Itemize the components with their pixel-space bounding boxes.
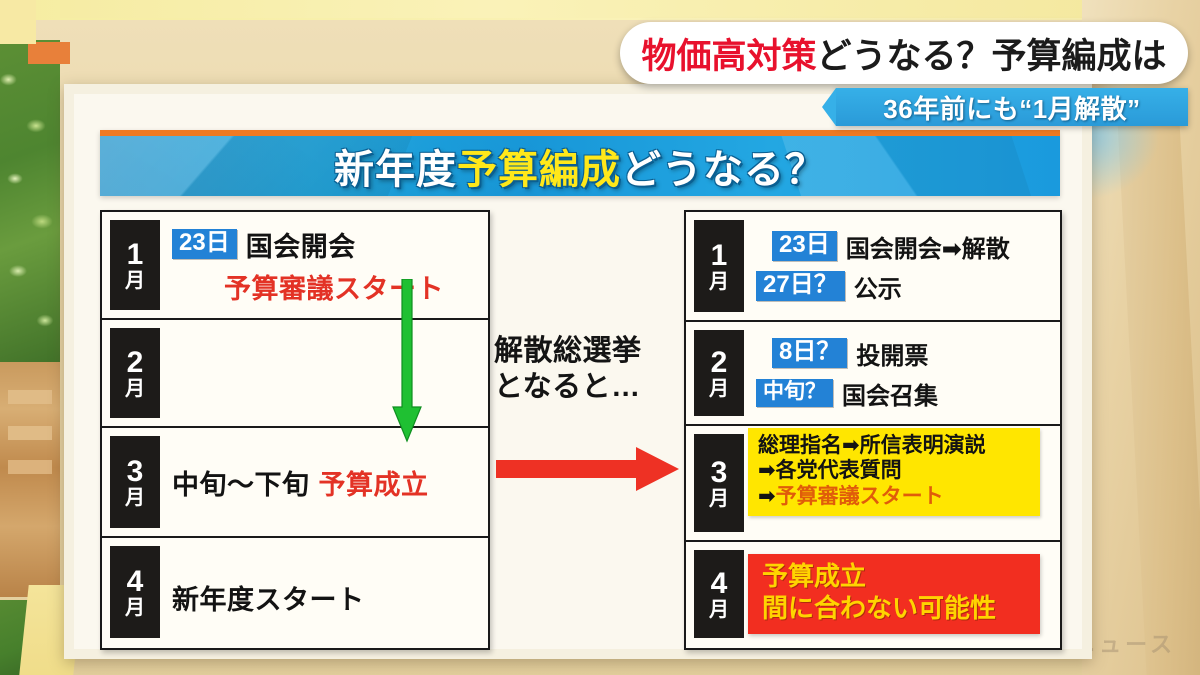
table-row: 2 月 8日？ 投開票 中旬？ 国会召集 <box>686 322 1060 426</box>
row-content: 新年度スタート <box>172 568 482 617</box>
timeline-table-scenario: 1 月 23日 国会開会➡解散 27日？ 公示 2 月 <box>684 210 1062 650</box>
month-kanji: 月 <box>125 598 145 618</box>
month-number: 2 <box>711 348 728 378</box>
month-chip: 2 月 <box>694 330 744 416</box>
event-label: 投開票 <box>856 336 928 371</box>
month-number: 3 <box>127 457 144 487</box>
background-foliage-left <box>0 40 60 370</box>
month-chip: 1 月 <box>110 220 160 310</box>
month-kanji: 月 <box>125 379 145 399</box>
board-inner-surface: 新年度 予算編成 どうなる？ 1 月 23日 国会開会 予算審議スタート <box>74 94 1082 649</box>
month-kanji: 月 <box>125 488 145 508</box>
row-content: 8日？ 投開票 中旬？ 国会召集 <box>756 336 1054 411</box>
table-row: 3 月 総理指名➡所信表明演説 ➡各党代表質問 ➡予算審議スタート <box>686 426 1060 542</box>
month-number: 1 <box>127 240 144 270</box>
timeline-table-current: 1 月 23日 国会開会 予算審議スタート 2 月 <box>100 210 490 650</box>
row-line: 新年度スタート <box>172 578 476 617</box>
highlight-callout-yellow: 総理指名➡所信表明演説 ➡各党代表質問 ➡予算審議スタート <box>748 428 1040 517</box>
callout-line: 間に合わない可能性 <box>762 593 1026 625</box>
month-number: 2 <box>127 348 144 378</box>
month-kanji: 月 <box>709 489 729 509</box>
row-line: 23日 国会開会 <box>172 225 476 264</box>
table-row: 4 月 予算成立 間に合わない可能性 <box>686 542 1060 646</box>
callout-arrow: ➡ <box>758 485 776 508</box>
row-line: 23日 国会開会➡解散 <box>772 229 1048 264</box>
graphic-board: 新年度 予算編成 どうなる？ 1 月 23日 国会開会 予算審議スタート <box>64 84 1092 659</box>
month-chip: 4 月 <box>694 550 744 638</box>
month-kanji: 月 <box>709 379 729 399</box>
row-content: 予算成立 間に合わない可能性 <box>748 554 1046 633</box>
callout-line: ➡各党代表質問 <box>758 458 1030 484</box>
row-content: 総理指名➡所信表明演説 ➡各党代表質問 ➡予算審議スタート <box>748 450 1046 517</box>
month-chip: 4 月 <box>110 546 160 638</box>
table-row: 3 月 中旬～下旬 予算成立 <box>102 428 488 538</box>
row-content: 中旬～下旬 予算成立 <box>172 463 482 502</box>
month-kanji: 月 <box>709 272 729 292</box>
callout-line-highlight: 予算審議スタート <box>776 485 944 508</box>
row-content: 23日 国会開会➡解散 27日？ 公示 <box>756 229 1054 304</box>
event-label: 新年度スタート <box>172 578 365 617</box>
month-number: 4 <box>127 567 144 597</box>
headline-main-topic: 物価高対策 <box>641 28 816 79</box>
headline-sub-text: 36年前にも“1月解散” <box>883 89 1140 126</box>
transition-line-1: 解散総選挙 <box>494 334 684 370</box>
callout-line: 総理指名➡所信表明演説 <box>758 433 1030 459</box>
event-label: 公示 <box>854 269 902 304</box>
row-line: 27日？ 公示 <box>756 269 1048 304</box>
background-orange-strip <box>28 42 70 64</box>
headline-main-question: どうなる？予算編成は <box>817 28 1167 79</box>
table-row: 1 月 23日 国会開会 予算審議スタート <box>102 212 488 320</box>
event-label: 国会開会➡解散 <box>846 229 1010 264</box>
month-chip: 1 月 <box>694 220 744 312</box>
background-wood-shelf <box>0 362 60 597</box>
green-down-arrow-icon <box>392 279 422 444</box>
background-top-band <box>60 0 1140 18</box>
row-line: 中旬～下旬 予算成立 <box>172 463 476 502</box>
date-badge: 8日？ <box>772 338 847 368</box>
row-line: 中旬？ 国会召集 <box>756 376 1048 411</box>
row-line: 8日？ 投開票 <box>772 336 1048 371</box>
board-title-part1: 新年度 <box>334 137 457 195</box>
board-title-banner: 新年度 予算編成 どうなる？ <box>100 130 1060 196</box>
headline-sub-banner: 36年前にも“1月解散” <box>836 88 1188 126</box>
transition-column: 解散総選挙 となると… <box>494 334 684 564</box>
table-row: 1 月 23日 国会開会➡解散 27日？ 公示 <box>686 212 1060 322</box>
month-number: 1 <box>711 241 728 271</box>
event-label: 中旬～下旬 <box>172 463 310 502</box>
table-row: 2 月 <box>102 320 488 428</box>
month-kanji: 月 <box>709 600 729 620</box>
date-badge: 23日 <box>172 229 237 259</box>
event-label: 国会召集 <box>842 376 938 411</box>
table-row: 4 月 新年度スタート <box>102 538 488 646</box>
date-badge: 27日？ <box>756 271 845 301</box>
month-chip: 3 月 <box>110 436 160 528</box>
month-kanji: 月 <box>125 271 145 291</box>
row-line: 予算審議スタート <box>224 267 476 306</box>
month-number: 4 <box>711 569 728 599</box>
event-label-highlight: 予算成立 <box>319 463 429 502</box>
board-title-part2: 予算編成 <box>457 137 621 195</box>
date-badge: 23日 <box>772 231 837 261</box>
transition-line-2: となると… <box>494 370 684 406</box>
date-badge: 中旬？ <box>756 379 833 407</box>
board-title-part3: どうなる？ <box>621 137 826 195</box>
callout-line: ➡予算審議スタート <box>758 484 1030 510</box>
month-chip: 2 月 <box>110 328 160 418</box>
month-chip: 3 月 <box>694 434 744 532</box>
event-label: 国会開会 <box>246 225 356 264</box>
row-content: 23日 国会開会 予算審議スタート <box>172 225 482 306</box>
callout-line: 予算成立 <box>762 561 1026 593</box>
highlight-callout-red: 予算成立 間に合わない可能性 <box>748 554 1040 633</box>
background-yellow-panel <box>0 0 36 44</box>
month-number: 3 <box>711 458 728 488</box>
headline-main-banner: 物価高対策 どうなる？予算編成は <box>620 22 1188 84</box>
red-right-arrow-icon <box>496 446 680 492</box>
